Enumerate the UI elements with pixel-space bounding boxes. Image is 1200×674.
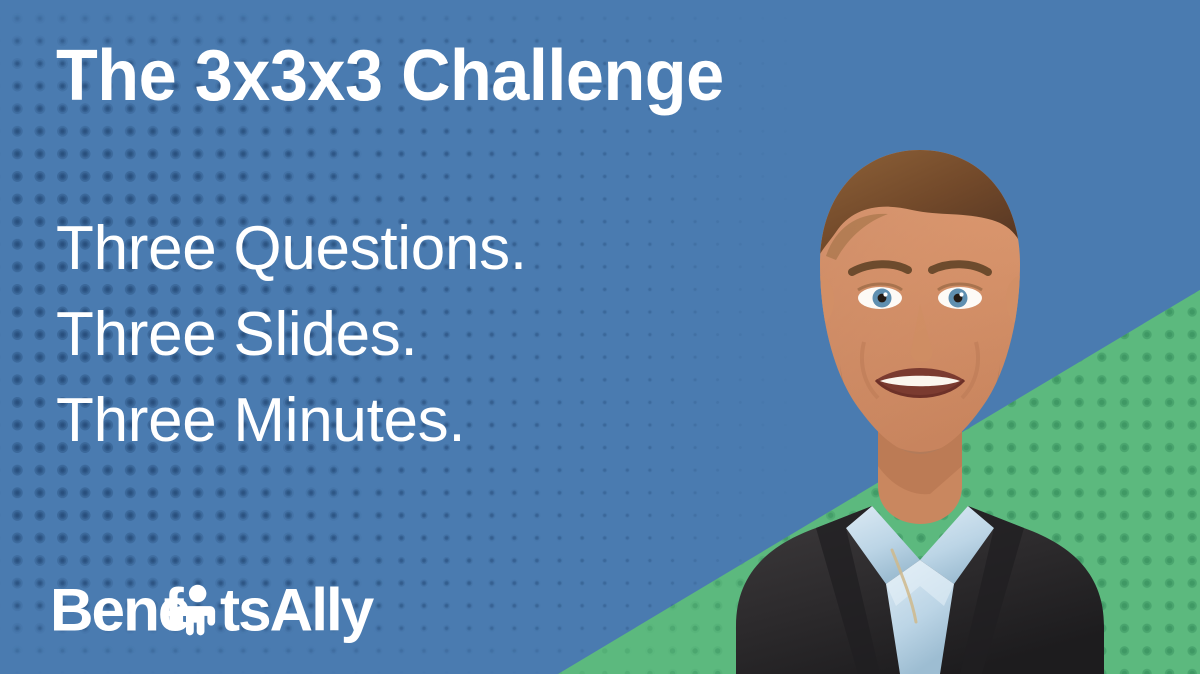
presentation-slide: The 3x3x3 Challenge Three Questions. Thr… — [0, 0, 1200, 674]
benefitsally-logo: BenefitsAlly Bene f tsAlly — [50, 578, 419, 646]
page-title: The 3x3x3 Challenge — [56, 40, 724, 112]
subhead-line-3: Three Minutes. — [56, 378, 527, 464]
subhead-line-1: Three Questions. — [56, 206, 527, 292]
logo-wordmark-part-2: tsAlly — [220, 578, 375, 643]
subhead-block: Three Questions. Three Slides. Three Min… — [56, 206, 527, 464]
subhead-line-2: Three Slides. — [56, 292, 527, 378]
